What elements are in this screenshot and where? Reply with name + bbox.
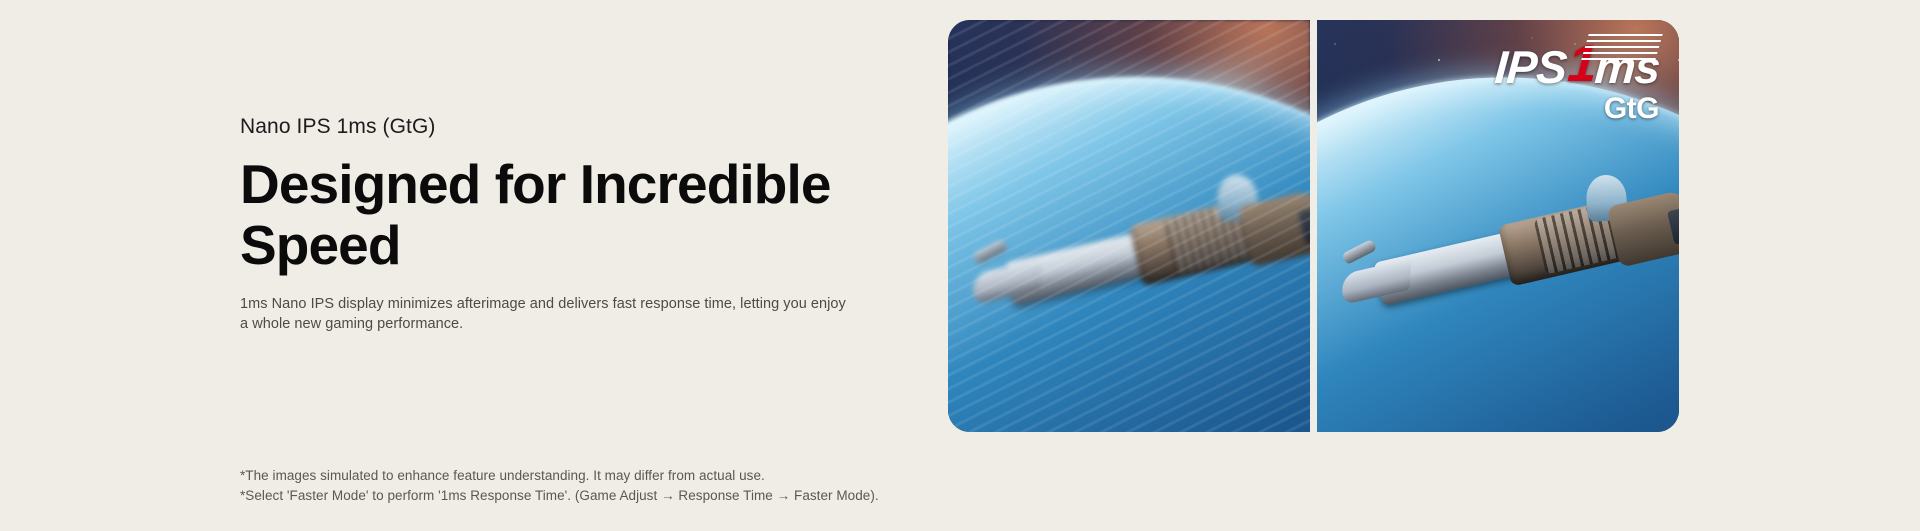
- ips-1ms-gtg-logo: IPS 1 ms GtG: [1495, 38, 1659, 126]
- image-sharp: IPS 1 ms GtG: [1317, 20, 1679, 432]
- ips-logo-gtg-text: GtG: [1495, 92, 1659, 126]
- image-blurred-afterimage: [948, 20, 1310, 432]
- footnotes: *The images simulated to enhance feature…: [240, 466, 1240, 505]
- motion-blur-streaks: [948, 20, 1310, 432]
- ips-logo-ips-text: IPS: [1494, 44, 1568, 90]
- ips-logo-row: IPS 1 ms: [1495, 38, 1659, 90]
- feature-description: 1ms Nano IPS display minimizes afterimag…: [240, 294, 850, 334]
- ship-mast: [1341, 239, 1377, 265]
- footnote-line-2: *Select 'Faster Mode' to perform '1ms Re…: [240, 486, 1240, 506]
- comparison-images: IPS 1 ms GtG: [948, 20, 1680, 432]
- feature-banner: Nano IPS 1ms (GtG) Designed for Incredib…: [0, 0, 1920, 531]
- speed-lines-icon: [1581, 34, 1662, 60]
- page-title: Designed for Incredible Speed: [240, 154, 840, 276]
- eyebrow-label: Nano IPS 1ms (GtG): [240, 112, 880, 142]
- copy-block: Nano IPS 1ms (GtG) Designed for Incredib…: [240, 112, 880, 334]
- footnote-line-1: *The images simulated to enhance feature…: [240, 466, 1240, 486]
